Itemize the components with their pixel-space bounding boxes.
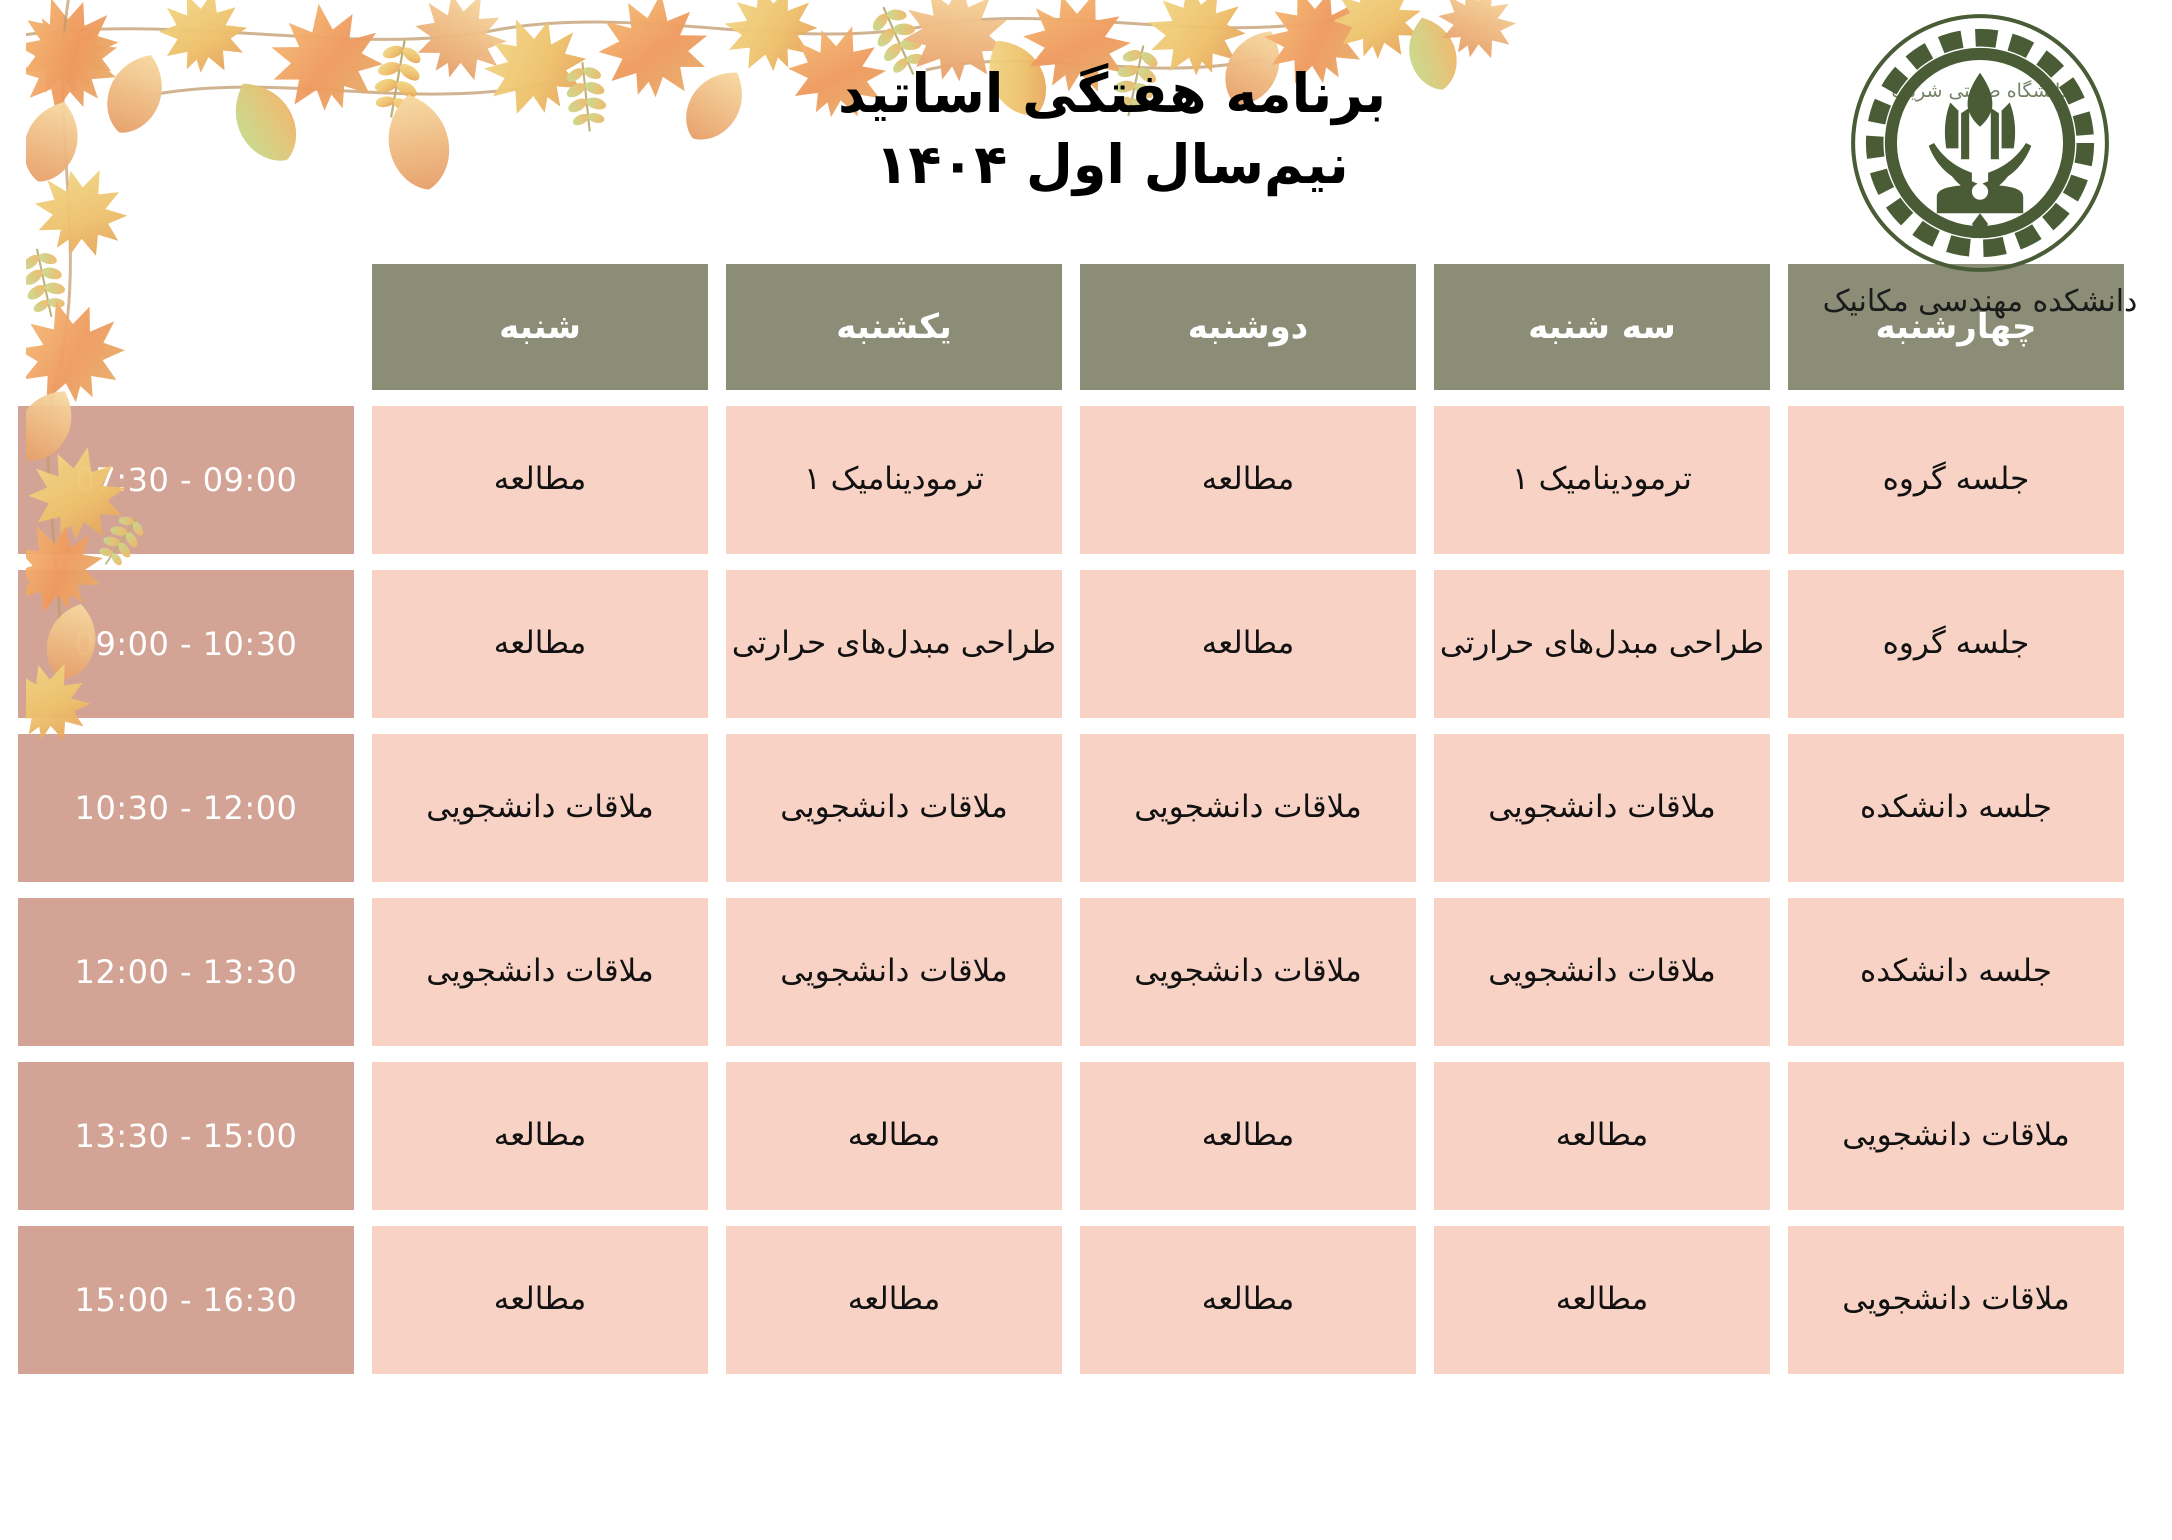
slot-cell-r4-c4[interactable]: ملاقات دانشجویی (700, 898, 1036, 1046)
time-slot-1: 07:30 - 09:00 (0, 406, 328, 554)
day-header-2: سه شنبه (1408, 264, 1744, 390)
schedule-body: جلسه گروهترمودینامیک ۱مطالعهترمودینامیک … (0, 406, 2098, 1374)
time-slot-6: 15:00 - 16:30 (0, 1226, 328, 1374)
slot-cell-r4-c2[interactable]: ملاقات دانشجویی (1408, 898, 1744, 1046)
day-header-5: شنبه (346, 264, 682, 390)
slot-cell-r3-c1[interactable]: جلسه دانشکده (1762, 734, 2098, 882)
time-slot-2: 09:00 - 10:30 (0, 570, 328, 718)
schedule-row: جلسه دانشکدهملاقات دانشجوییملاقات دانشجو… (0, 898, 2098, 1046)
day-header-3: دوشنبه (1054, 264, 1390, 390)
slot-cell-r2-c4[interactable]: طراحی مبدل‌های حرارتی (700, 570, 1036, 718)
slot-cell-r3-c4[interactable]: ملاقات دانشجویی (700, 734, 1036, 882)
slot-cell-r6-c4[interactable]: مطالعه (700, 1226, 1036, 1374)
slot-cell-r5-c5[interactable]: مطالعه (346, 1062, 682, 1210)
schedule-row: ملاقات دانشجوییمطالعهمطالعهمطالعهمطالعه1… (0, 1062, 2098, 1210)
slot-cell-r6-c2[interactable]: مطالعه (1408, 1226, 1744, 1374)
slot-cell-r1-c5[interactable]: مطالعه (346, 406, 682, 554)
time-column-header (0, 264, 328, 390)
slot-cell-r3-c5[interactable]: ملاقات دانشجویی (346, 734, 682, 882)
slot-cell-r2-c3[interactable]: مطالعه (1054, 570, 1390, 718)
time-slot-3: 10:30 - 12:00 (0, 734, 328, 882)
slot-cell-r2-c1[interactable]: جلسه گروه (1762, 570, 2098, 718)
weekly-schedule-table: چهارشنبهسه شنبهدوشنبهیکشنبهشنبه جلسه گرو… (0, 248, 2116, 1390)
sharif-university-logo-icon: دانشگاه صنعتی شریف (1819, 8, 2089, 278)
slot-cell-r4-c3[interactable]: ملاقات دانشجویی (1054, 898, 1390, 1046)
time-slot-4: 12:00 - 13:30 (0, 898, 328, 1046)
slot-cell-r5-c2[interactable]: مطالعه (1408, 1062, 1744, 1210)
schedule-row: ملاقات دانشجوییمطالعهمطالعهمطالعهمطالعه1… (0, 1226, 2098, 1374)
schedule-row: جلسه گروهطراحی مبدل‌های حرارتیمطالعهطراح… (0, 570, 2098, 718)
slot-cell-r4-c5[interactable]: ملاقات دانشجویی (346, 898, 682, 1046)
time-slot-5: 13:30 - 15:00 (0, 1062, 328, 1210)
slot-cell-r6-c1[interactable]: ملاقات دانشجویی (1762, 1226, 2098, 1374)
autumn-leaf-border-top (0, 0, 1700, 260)
slot-cell-r2-c2[interactable]: طراحی مبدل‌های حرارتی (1408, 570, 1744, 718)
slot-cell-r1-c3[interactable]: مطالعه (1054, 406, 1390, 554)
schedule-row: جلسه گروهترمودینامیک ۱مطالعهترمودینامیک … (0, 406, 2098, 554)
slot-cell-r6-c5[interactable]: مطالعه (346, 1226, 682, 1374)
brand-block: دانشگاه صنعتی شریف دانشکده مهندسی مکانیک (1754, 8, 2154, 319)
slot-cell-r1-c2[interactable]: ترمودینامیک ۱ (1408, 406, 1744, 554)
slot-cell-r3-c3[interactable]: ملاقات دانشجویی (1054, 734, 1390, 882)
svg-text:دانشگاه صنعتی شریف: دانشگاه صنعتی شریف (1865, 80, 2042, 102)
slot-cell-r1-c1[interactable]: جلسه گروه (1762, 406, 2098, 554)
schedule-row: جلسه دانشکدهملاقات دانشجوییملاقات دانشجو… (0, 734, 2098, 882)
slot-cell-r5-c4[interactable]: مطالعه (700, 1062, 1036, 1210)
slot-cell-r5-c1[interactable]: ملاقات دانشجویی (1762, 1062, 2098, 1210)
slot-cell-r1-c4[interactable]: ترمودینامیک ۱ (700, 406, 1036, 554)
slot-cell-r6-c3[interactable]: مطالعه (1054, 1226, 1390, 1374)
slot-cell-r3-c2[interactable]: ملاقات دانشجویی (1408, 734, 1744, 882)
faculty-name: دانشکده مهندسی مکانیک (1754, 284, 2154, 319)
slot-cell-r5-c3[interactable]: مطالعه (1054, 1062, 1390, 1210)
slot-cell-r2-c5[interactable]: مطالعه (346, 570, 682, 718)
day-header-4: یکشنبه (700, 264, 1036, 390)
slot-cell-r4-c1[interactable]: جلسه دانشکده (1762, 898, 2098, 1046)
